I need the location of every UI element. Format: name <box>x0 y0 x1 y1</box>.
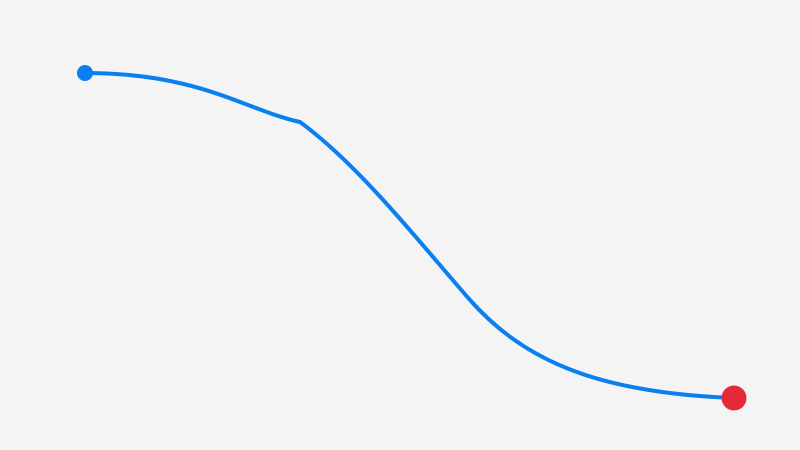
curve-svg[interactable] <box>0 0 800 450</box>
curve-canvas[interactable] <box>0 0 800 450</box>
bezier-editor-app: MOVE START-END POINTS WITH MOUSE <box>0 0 800 450</box>
end-point-handle[interactable] <box>722 386 747 411</box>
canvas-background <box>0 0 800 450</box>
start-point-handle[interactable] <box>77 65 93 81</box>
